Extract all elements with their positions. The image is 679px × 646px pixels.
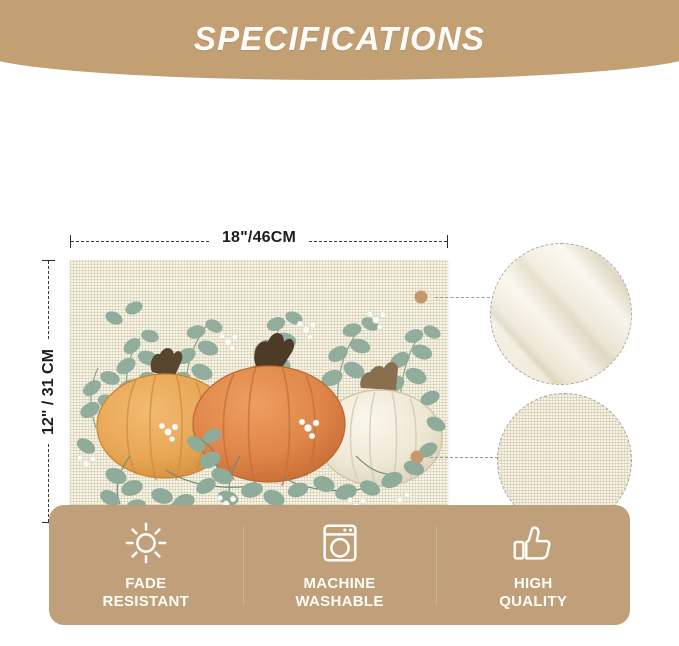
flower-cluster bbox=[77, 455, 95, 467]
width-dashed-line-right bbox=[309, 241, 447, 242]
width-dimension-label: 18"/46CM bbox=[215, 229, 303, 247]
page-title: SPECIFICATIONS bbox=[0, 0, 679, 78]
product-placemat-image bbox=[70, 260, 448, 523]
thumbs-up-icon bbox=[510, 520, 556, 566]
callout-dot-top bbox=[415, 291, 428, 304]
leader-line-bottom bbox=[430, 457, 498, 458]
pumpkin-artwork bbox=[70, 260, 448, 523]
feature-line2: RESISTANT bbox=[103, 593, 190, 610]
sun-icon bbox=[123, 520, 169, 566]
washing-machine-icon bbox=[317, 520, 363, 566]
feature-label-machine-washable: MACHINE WASHABLE bbox=[295, 575, 383, 610]
height-dashed-line-top bbox=[48, 261, 49, 339]
feature-label-fade-resistant: FADE RESISTANT bbox=[103, 575, 190, 610]
width-dashed-line-left bbox=[71, 241, 209, 242]
height-dimension: 12" / 31 CM bbox=[42, 260, 56, 523]
feature-label-high-quality: HIGH QUALITY bbox=[499, 575, 567, 610]
width-tick-right bbox=[447, 235, 448, 248]
folded-fabric-detail bbox=[490, 243, 632, 385]
leader-line-top bbox=[435, 297, 495, 298]
feature-high-quality: HIGH QUALITY bbox=[436, 505, 630, 625]
flower-cluster bbox=[297, 321, 316, 339]
fold-sheen bbox=[491, 244, 631, 384]
feature-line1: MACHINE bbox=[303, 575, 375, 592]
height-dimension-label: 12" / 31 CM bbox=[40, 342, 58, 442]
specification-area: 18"/46CM 12" / 31 CM bbox=[0, 80, 679, 500]
feature-line2: WASHABLE bbox=[295, 593, 383, 610]
feature-line1: FADE bbox=[125, 575, 166, 592]
feature-line1: HIGH bbox=[514, 575, 553, 592]
flower-cluster bbox=[219, 333, 238, 350]
feature-bar: FADE RESISTANT MACHINE WASHABLE HIGH QUA… bbox=[49, 505, 630, 625]
feature-fade-resistant: FADE RESISTANT bbox=[49, 505, 243, 625]
callout-dot-bottom bbox=[411, 451, 424, 464]
feature-line2: QUALITY bbox=[499, 593, 567, 610]
width-dimension: 18"/46CM bbox=[70, 235, 448, 249]
feature-machine-washable: MACHINE WASHABLE bbox=[243, 505, 437, 625]
flower-cluster bbox=[397, 492, 410, 503]
